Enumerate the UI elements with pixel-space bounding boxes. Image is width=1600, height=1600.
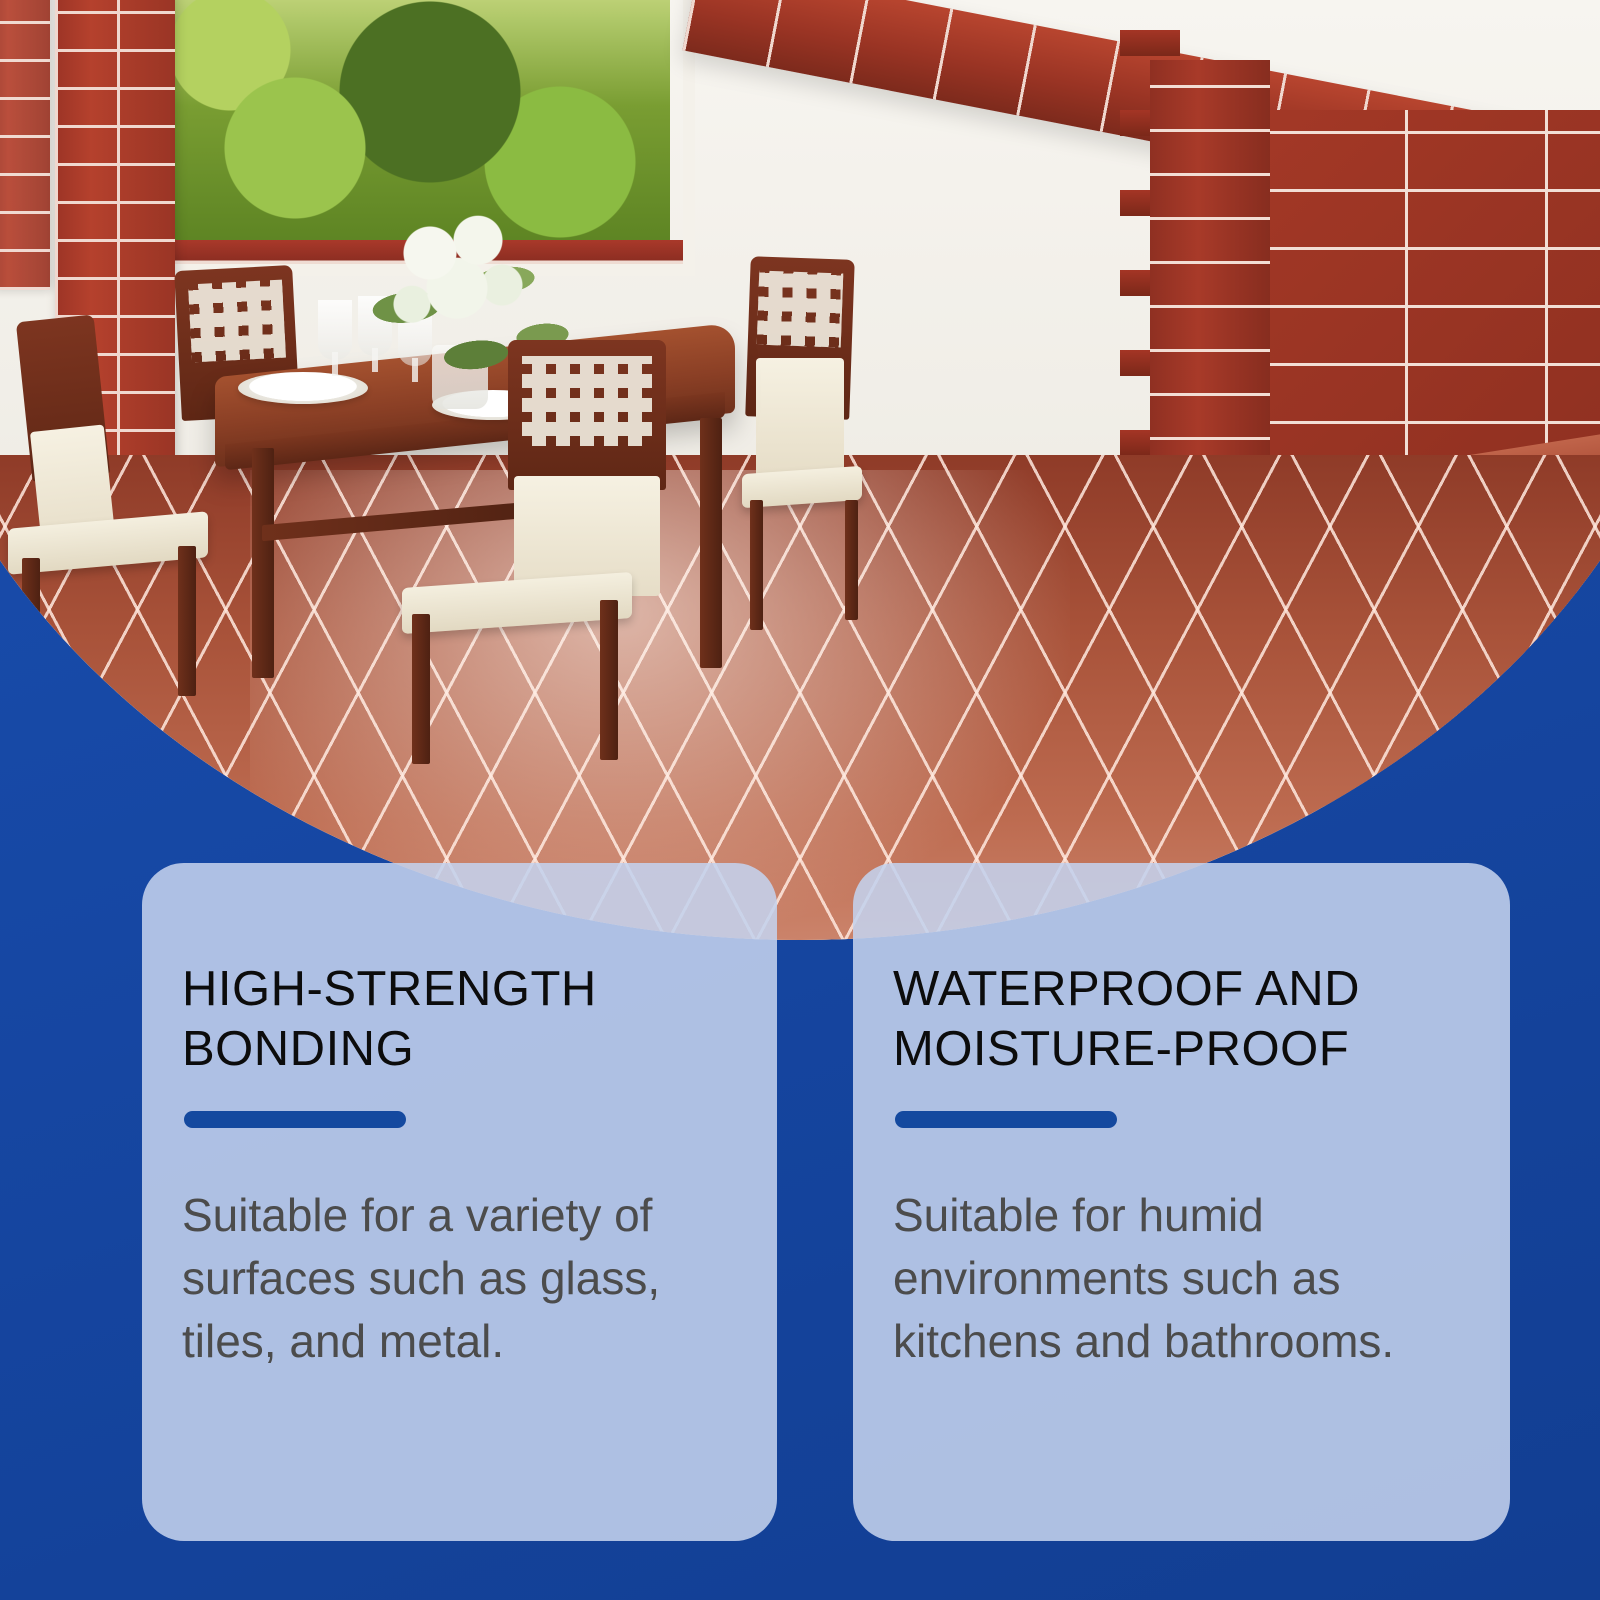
chair-leg-rr-2: [845, 500, 858, 620]
feature-card-title: HIGH-STRENGTH BONDING: [182, 959, 733, 1079]
chair-lattice-left-rear: [188, 280, 286, 363]
feature-card-high-strength-bonding: HIGH-STRENGTH BONDING Suitable for a var…: [142, 863, 777, 1541]
accent-divider: [184, 1111, 406, 1128]
chair-backrest-pad-right-rear: [756, 358, 844, 478]
chair-lattice-center-front: [522, 356, 652, 446]
wine-glass-1: [318, 300, 352, 360]
feature-card-description: Suitable for a variety of surfaces such …: [182, 1184, 733, 1373]
table-leg-front-right: [700, 418, 722, 668]
chair-leg-fl-2: [178, 546, 196, 696]
feature-card-description: Suitable for humid environments such as …: [893, 1184, 1466, 1373]
brick-pillar-outer: [0, 0, 50, 290]
promo-graphic: HIGH-STRENGTH BONDING Suitable for a var…: [0, 0, 1600, 1600]
chair-leg-rr-1: [750, 500, 763, 630]
hero-photo: [0, 0, 1600, 940]
chair-leg-cf-1: [412, 614, 430, 764]
chair-leg-fl-1: [22, 558, 40, 708]
feature-card-title: WATERPROOF AND MOISTURE-PROOF: [893, 959, 1466, 1079]
accent-divider: [895, 1111, 1117, 1128]
feature-card-waterproof-moisture-proof: WATERPROOF AND MOISTURE-PROOF Suitable f…: [853, 863, 1510, 1541]
table-leg-front-left: [252, 448, 274, 678]
chair-leg-cf-2: [600, 600, 618, 760]
dinner-plate-left: [238, 372, 368, 404]
chair-lattice-right-rear: [757, 271, 844, 348]
hero-circle-mask: [0, 0, 1600, 940]
room-photo-illustration: [0, 0, 1600, 940]
